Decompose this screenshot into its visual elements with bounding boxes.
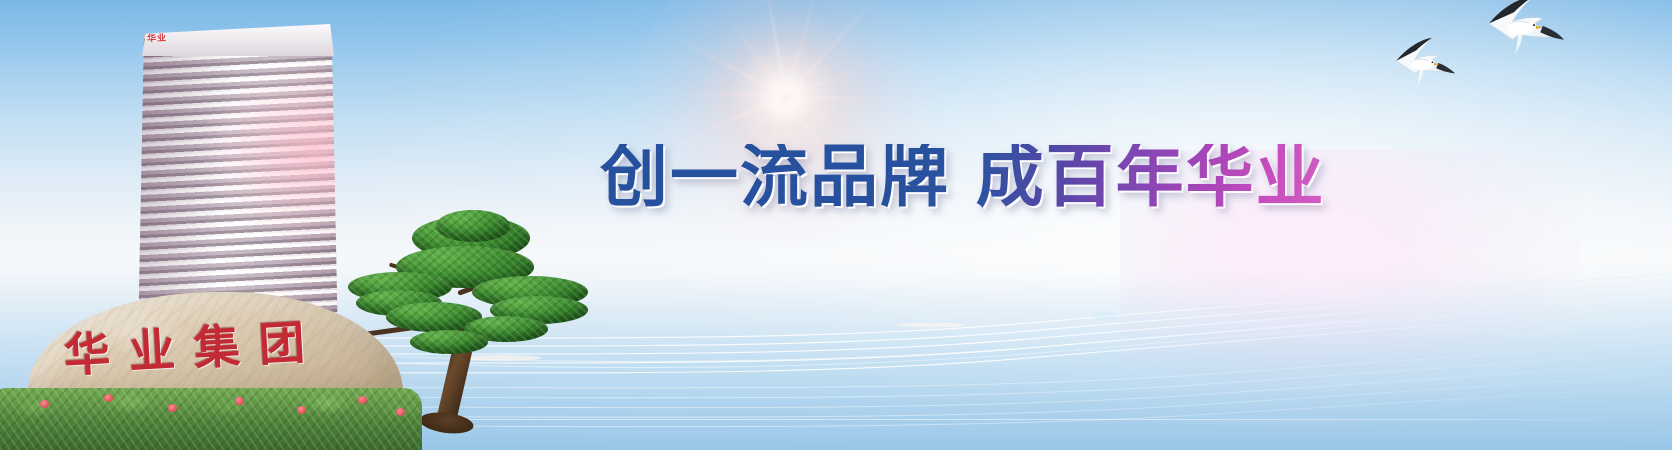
engraved-char-4: 团	[258, 319, 306, 367]
hero-banner: 华业	[0, 0, 1672, 450]
engraved-char-3: 集	[193, 323, 241, 371]
seagull-icon	[1396, 38, 1455, 86]
engraved-char-1: 华	[63, 330, 111, 378]
hedge-shrub-icon	[0, 388, 422, 450]
tower-rooftop-sign: 华业	[147, 30, 168, 44]
tower-crown	[142, 24, 334, 56]
slogan-banner: 创一流品牌 成百年华业	[600, 138, 1360, 218]
slogan-text: 创一流品牌 成百年华业	[600, 144, 1326, 212]
left-photo-composition: 华业	[0, 0, 600, 450]
seagull-icon	[1489, 0, 1564, 54]
monument-engraving: 华 业 集 团	[63, 319, 306, 378]
sun-core	[635, 0, 935, 247]
pink-glow-overlay	[1120, 150, 1580, 440]
engraved-char-2: 业	[128, 327, 176, 375]
seagull-group	[1372, 0, 1672, 140]
